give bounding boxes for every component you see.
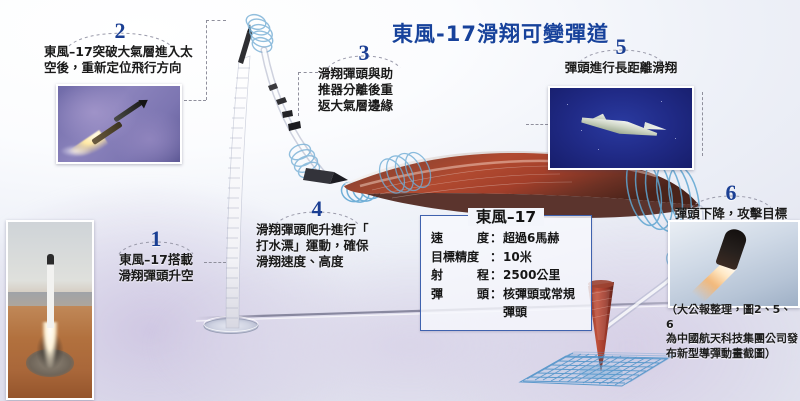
spec-sep: ： <box>490 266 502 285</box>
reentry-coil-rings <box>287 141 322 180</box>
connector-5b <box>702 92 703 156</box>
spec-box-title-wrap: 東風–17 <box>421 205 591 227</box>
background-haze-center <box>150 251 670 401</box>
connector-2b <box>206 20 207 100</box>
apex-coil-rings <box>244 12 274 54</box>
infographic-canvas: 東風-17滑翔可變彈道 1 東風–17搭載 滑翔彈頭升空 2 東風–17突破大氣… <box>0 0 800 401</box>
callout-4-number: 4 <box>256 198 378 220</box>
source-note: （大公報整理，圖2、5、6 為中國航天科技集團公司發 布新型導彈動畫截圖） <box>666 303 798 361</box>
spec-key-range-b: 程 <box>477 266 489 285</box>
callout-3-text: 滑翔彈頭與助 推器分離後重 返大氣層邊緣 <box>318 66 410 114</box>
spec-key-range: 射 程 <box>431 266 489 285</box>
callout-4-arc-wrap: 4 <box>256 198 378 222</box>
connector-2a <box>184 100 206 101</box>
callout-4-text: 滑翔彈頭爬升進行「 打水漂」運動，確保 滑翔速度、高度 <box>256 222 378 270</box>
callout-1-number: 1 <box>108 228 204 250</box>
spec-value-speed: 超過6馬赫 <box>503 229 559 248</box>
spec-sep: ： <box>490 229 502 248</box>
callout-2-number: 2 <box>44 20 196 42</box>
spec-key-warhead-b: 頭 <box>477 285 489 322</box>
connector-3b <box>298 72 299 116</box>
callout-5-number: 5 <box>552 36 690 58</box>
warhead-descent-photo <box>668 220 800 308</box>
spec-row-range: 射 程 ： 2500公里 <box>431 266 583 285</box>
spec-key-speed: 速 度 <box>431 229 489 248</box>
callout-6-arc-wrap: 6 <box>666 182 796 206</box>
callout-3: 3 滑翔彈頭與助 推器分離後重 返大氣層邊緣 <box>318 42 410 114</box>
callout-2: 2 東風–17突破大氣層進入太 空後，重新定位飛行方向 <box>44 20 196 76</box>
spec-value-accuracy: 10米 <box>503 248 532 267</box>
callout-1-arc-wrap: 1 <box>108 228 204 252</box>
spec-value-warhead: 核彈頭或常規彈頭 <box>503 285 583 322</box>
connector-2c <box>206 20 226 21</box>
spec-key-accuracy: 目標精度 <box>431 248 489 267</box>
glide-entry-coils <box>375 149 436 197</box>
callout-2-text: 東風–17突破大氣層進入太 空後，重新定位飛行方向 <box>44 44 196 76</box>
spec-sep: ： <box>490 285 502 322</box>
callout-3-arc-wrap: 3 <box>318 42 410 66</box>
callout-6: 6 彈頭下降，攻擊目標 <box>666 182 796 222</box>
connector-5a <box>526 124 548 125</box>
spec-row-speed: 速 度 ： 超過6馬赫 <box>431 229 583 248</box>
connector-3a <box>298 72 318 73</box>
spec-key-speed-a: 速 <box>431 229 443 248</box>
callout-6-number: 6 <box>666 182 796 204</box>
callout-1-text: 東風–17搭載 滑翔彈頭升空 <box>108 252 204 284</box>
connector-1 <box>204 262 226 263</box>
spec-key-speed-b: 度 <box>477 229 489 248</box>
spec-row-warhead: 彈 頭 ： 核彈頭或常規彈頭 <box>431 285 583 322</box>
callout-4: 4 滑翔彈頭爬升進行「 打水漂」運動，確保 滑翔速度、高度 <box>256 198 378 270</box>
spec-sep: ： <box>490 248 502 267</box>
callout-3-number: 3 <box>318 42 410 64</box>
callout-5: 5 彈頭進行長距離滑翔 <box>552 36 690 76</box>
glide-vehicle-photo <box>548 86 694 170</box>
spec-key-warhead-a: 彈 <box>431 285 443 322</box>
separation-in-space-photo <box>56 84 182 164</box>
callout-1: 1 東風–17搭載 滑翔彈頭升空 <box>108 228 204 284</box>
spec-key-warhead: 彈 頭 <box>431 285 489 322</box>
spec-box-title: 東風–17 <box>468 208 544 226</box>
callout-2-arc-wrap: 2 <box>44 20 196 44</box>
desert-launch-photo <box>6 220 94 400</box>
spec-key-range-a: 射 <box>431 266 443 285</box>
spec-row-accuracy: 目標精度 ： 10米 <box>431 248 583 267</box>
spec-box: 東風–17 速 度 ： 超過6馬赫 目標精度 ： 10米 射 程 ： 2500公… <box>420 215 592 331</box>
spec-value-range: 2500公里 <box>503 266 560 285</box>
reentry-descent-path <box>264 50 324 175</box>
callout-5-arc-wrap: 5 <box>552 36 690 60</box>
